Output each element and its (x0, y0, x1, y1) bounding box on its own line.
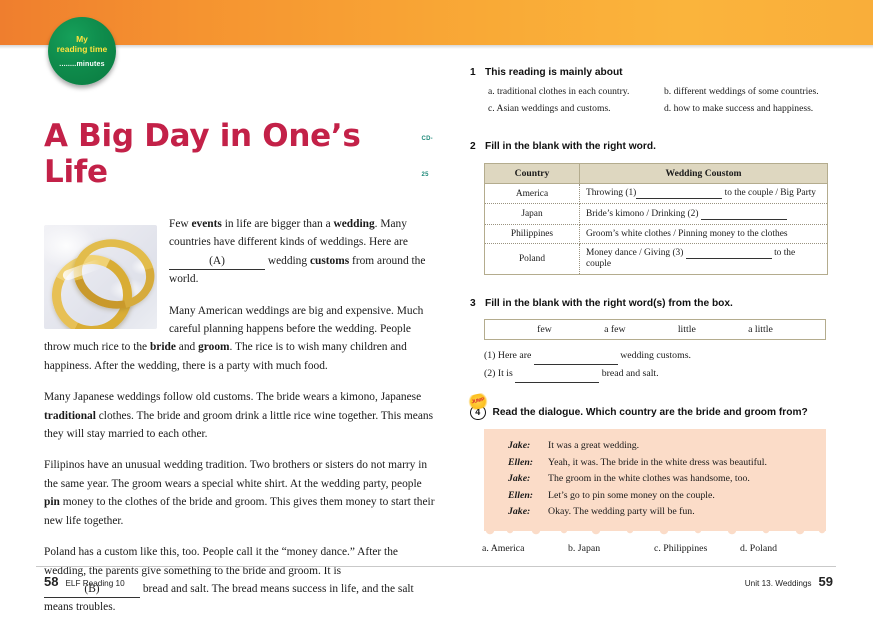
keyword: customs (310, 255, 349, 267)
answer-blank[interactable] (686, 248, 772, 259)
book-title-label: ELF Reading 10 (65, 579, 124, 588)
question-1-prompt: This reading is mainly about (485, 66, 623, 80)
question-4-header: 4 Read the dialogue. Which country are t… (470, 405, 832, 421)
question-4: JUMP 4 Read the dialogue. Which country … (470, 405, 832, 554)
badge-line-2: reading time (57, 44, 108, 54)
page-number-right: 59 (819, 574, 833, 589)
reading-body: Few events in life are bigger than a wed… (44, 215, 439, 617)
table-column-header: Wedding Coustom (580, 164, 828, 184)
table-row: PolandMoney dance / Giving (3) to the co… (485, 244, 828, 274)
table-row: JapanBride’s kimono / Drinking (2) (485, 204, 828, 224)
keyword: wedding (334, 218, 375, 230)
page-title: A Big Day in One’s Life CD-25 (44, 118, 439, 199)
reading-paragraph: Many Japanese weddings follow old custom… (44, 388, 439, 443)
wedding-rings-image (44, 225, 157, 329)
dialogue-box: Jake:It was a great wedding.Ellen:Yeah, … (484, 429, 826, 531)
answer-blank[interactable]: (A) (169, 254, 265, 270)
answer-blank[interactable] (701, 209, 787, 220)
question-1-option[interactable]: d. how to make success and happiness. (664, 102, 832, 116)
question-4-options: a. Americab. Japanc. Philippinesd. Polan… (482, 543, 826, 554)
word-bank-box: fewa fewlittlea little (484, 319, 826, 340)
dialogue-text: Okay. The wedding party will be fun. (548, 504, 695, 521)
dialogue-lines: Jake:It was a great wedding.Ellen:Yeah, … (484, 438, 826, 521)
dialogue-text: The groom in the white clothes was hands… (548, 471, 750, 488)
word-bank-item[interactable]: little (678, 324, 696, 335)
dialogue-speaker: Ellen: (508, 455, 541, 472)
table-cell-country: America (485, 184, 580, 204)
dialogue-line: Jake:The groom in the white clothes was … (484, 471, 826, 488)
question-3: 3 Fill in the blank with the right word(… (470, 297, 832, 383)
badge-line-1: My (76, 34, 88, 44)
question-3-item: (1) Here are wedding customs. (484, 347, 832, 365)
reading-time-badge: My reading time ........minutes (48, 17, 120, 89)
reading-paragraph: Filipinos have an unusual wedding tradit… (44, 456, 439, 530)
word-bank-item[interactable]: few (537, 324, 552, 335)
table-cell-custom: Bride’s kimono / Drinking (2) (580, 204, 828, 224)
textbook-page-spread: My reading time ........minutes A Big Da… (0, 0, 873, 612)
question-4-option[interactable]: c. Philippines (654, 543, 740, 554)
question-4-option[interactable]: d. Poland (740, 543, 826, 554)
page-number-left: 58 (44, 574, 58, 589)
question-3-prompt: Fill in the blank with the right word(s)… (485, 297, 733, 311)
question-2-number: 2 (470, 140, 477, 154)
question-1-header: 1 This reading is mainly about (470, 66, 832, 80)
table-cell-country: Poland (485, 244, 580, 274)
dialogue-line: Ellen:Let’s go to pin some money on the … (484, 488, 826, 505)
table-header-row: CountryWedding Coustom (485, 164, 828, 184)
question-1: 1 This reading is mainly about a. tradit… (470, 66, 832, 116)
dialogue-text: Yeah, it was. The bride in the white dre… (548, 455, 767, 472)
question-4-option[interactable]: b. Japan (568, 543, 654, 554)
question-2-prompt: Fill in the blank with the right word. (485, 140, 656, 154)
question-3-items: (1) Here are wedding customs.(2) It is b… (484, 347, 832, 383)
dialogue-speaker: Jake: (508, 504, 541, 521)
keyword: groom (198, 341, 229, 353)
footer-left: 58 ELF Reading 10 (44, 574, 125, 589)
dialogue-line: Jake:Okay. The wedding party will be fun… (484, 504, 826, 521)
reading-column: A Big Day in One’s Life CD-25 Few events… (44, 118, 439, 630)
question-1-option[interactable]: a. traditional clothes in each country. (488, 85, 656, 99)
question-4-prompt: Read the dialogue. Which country are the… (493, 407, 808, 418)
torn-paper-edge (484, 530, 826, 535)
footer-right: Unit 13. Weddings 59 (745, 574, 833, 589)
question-2: 2 Fill in the blank with the right word.… (470, 140, 832, 275)
question-3-header: 3 Fill in the blank with the right word(… (470, 297, 832, 311)
keyword: bride (150, 341, 176, 353)
dialogue-text: Let’s go to pin some money on the couple… (548, 488, 715, 505)
table-column-header: Country (485, 164, 580, 184)
dialogue-text: It was a great wedding. (548, 438, 639, 455)
table-row: PhilippinesGroom’s white clothes / Pinni… (485, 224, 828, 243)
header-band-shadow (0, 45, 873, 49)
keyword: traditional (44, 410, 96, 422)
answer-blank[interactable] (636, 188, 722, 199)
dialogue-speaker: Ellen: (508, 488, 541, 505)
footer-divider (36, 566, 836, 567)
question-3-number: 3 (470, 297, 477, 311)
question-1-options: a. traditional clothes in each country.b… (488, 85, 832, 116)
reading-time-circle: My reading time ........minutes (48, 17, 116, 85)
question-1-option[interactable]: b. different weddings of some countries. (664, 85, 832, 99)
header-orange-band (0, 0, 873, 45)
page-title-text: A Big Day in One’s Life (44, 118, 416, 190)
question-3-item: (2) It is bread and salt. (484, 365, 832, 383)
word-bank-item[interactable]: a few (604, 324, 625, 335)
table-cell-country: Japan (485, 204, 580, 224)
dialogue-speaker: Jake: (508, 471, 541, 488)
table-cell-custom: Money dance / Giving (3) to the couple (580, 244, 828, 274)
keyword: pin (44, 496, 60, 508)
table-cell-custom: Throwing (1) to the couple / Big Party (580, 184, 828, 204)
dialogue-line: Jake:It was a great wedding. (484, 438, 826, 455)
answer-blank[interactable] (534, 347, 618, 365)
exercises-column: 1 This reading is mainly about a. tradit… (470, 66, 832, 554)
table-row: AmericaThrowing (1) to the couple / Big … (485, 184, 828, 204)
dialogue-speaker: Jake: (508, 438, 541, 455)
word-bank-item[interactable]: a little (748, 324, 773, 335)
answer-blank[interactable] (515, 365, 599, 383)
question-1-option[interactable]: c. Asian weddings and customs. (488, 102, 656, 116)
audio-track-label: CD-25 (422, 121, 439, 193)
question-1-number: 1 (470, 66, 477, 80)
table-body: AmericaThrowing (1) to the couple / Big … (485, 184, 828, 275)
unit-label: Unit 13. Weddings (745, 579, 812, 588)
question-4-option[interactable]: a. America (482, 543, 568, 554)
badge-minutes-blank: ........minutes (59, 61, 104, 68)
dialogue-line: Ellen:Yeah, it was. The bride in the whi… (484, 455, 826, 472)
wedding-customs-table: CountryWedding Coustom AmericaThrowing (… (484, 163, 828, 275)
keyword: events (191, 218, 221, 230)
question-2-header: 2 Fill in the blank with the right word. (470, 140, 832, 154)
table-cell-custom: Groom’s white clothes / Pinning money to… (580, 224, 828, 243)
table-cell-country: Philippines (485, 224, 580, 243)
